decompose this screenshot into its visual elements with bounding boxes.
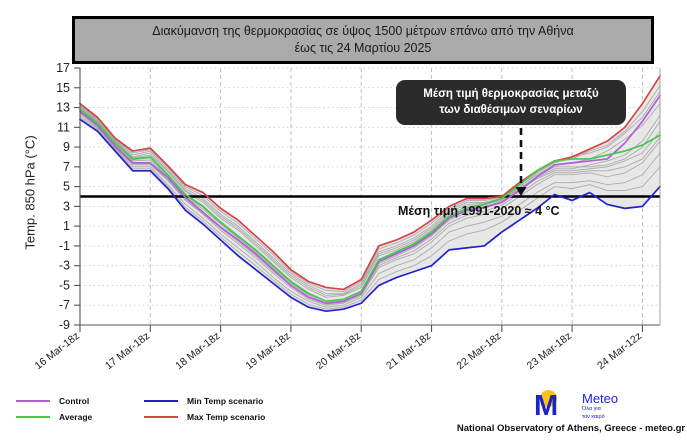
- legend-color-swatch: [144, 416, 178, 418]
- y-tick-label: -9: [59, 318, 70, 332]
- y-tick-label: 17: [56, 61, 70, 75]
- legend-label: Min Temp scenario: [187, 396, 263, 406]
- y-tick-label: 1: [63, 219, 70, 233]
- legend-color-swatch: [16, 416, 50, 418]
- logo-tagline-line1: Όλα για: [582, 406, 601, 412]
- logo-tagline: Όλα για τον καιρό: [582, 405, 605, 422]
- y-tick-label: 7: [63, 160, 70, 174]
- y-tick-label: 11: [57, 120, 70, 134]
- callout-line2: των διαθέσιμων σεναρίων: [439, 104, 582, 116]
- legend-color-swatch: [144, 400, 178, 402]
- chart-page: Διακύμανση της θερμοκρασίας σε ύψος 1500…: [0, 0, 687, 440]
- x-tick-label: 16 Mar-18z: [33, 330, 82, 372]
- legend-item-average: Average: [16, 412, 92, 422]
- x-tick-label: 22 Mar-18z: [454, 330, 503, 372]
- y-tick-label: -3: [59, 259, 70, 273]
- legend-label: Average: [59, 412, 92, 422]
- legend-item-control: Control: [16, 396, 89, 406]
- logo-wordmark: Meteo: [582, 391, 618, 406]
- y-axis-title: Temp. 850 hPa (°C): [23, 93, 38, 293]
- y-tick-label: 9: [63, 140, 70, 154]
- average-scenario-callout: Μέση τιμή θερμοκρασίας μεταξύ των διαθέσ…: [396, 80, 626, 125]
- y-tick-label: -1: [59, 239, 70, 253]
- x-tick-label: 18 Mar-18z: [173, 330, 222, 372]
- meteo-logo: M Meteo Όλα για τον καιρό: [524, 390, 644, 420]
- legend-item-max-temp-scenario: Max Temp scenario: [144, 412, 265, 422]
- x-tick-label: 20 Mar-18z: [314, 330, 363, 372]
- y-tick-label: 5: [63, 180, 70, 194]
- legend-label: Max Temp scenario: [187, 412, 265, 422]
- x-tick-label: 17 Mar-18z: [103, 330, 152, 372]
- climatological-mean-label: Μέση τιμή 1991-2020 ≈ 4 °C: [398, 204, 560, 218]
- logo-letter-m: M: [534, 393, 557, 419]
- x-tick-label: 21 Mar-18z: [384, 330, 433, 372]
- legend-color-swatch: [16, 400, 50, 402]
- temperature-ensemble-plot: -9-7-5-3-1135791113151716 Mar-18z17 Mar-…: [0, 0, 687, 440]
- logo-tagline-line2: τον καιρό: [582, 414, 605, 420]
- y-tick-label: 13: [56, 101, 70, 115]
- y-tick-label: 3: [63, 199, 70, 213]
- x-tick-label: 19 Mar-18z: [244, 330, 293, 372]
- x-tick-label: 24 Mar-12z: [595, 330, 644, 372]
- y-tick-label: -7: [59, 298, 70, 312]
- x-tick-label: 23 Mar-18z: [525, 330, 574, 372]
- legend-item-min-temp-scenario: Min Temp scenario: [144, 396, 263, 406]
- y-tick-label: -5: [59, 278, 70, 292]
- footer-credit: National Observatory of Athens, Greece -…: [455, 423, 687, 434]
- chart-legend: ControlAverageMin Temp scenarioMax Temp …: [16, 396, 286, 432]
- callout-line1: Μέση τιμή θερμοκρασίας μεταξύ: [423, 88, 598, 100]
- legend-label: Control: [59, 396, 89, 406]
- y-tick-label: 15: [56, 81, 70, 95]
